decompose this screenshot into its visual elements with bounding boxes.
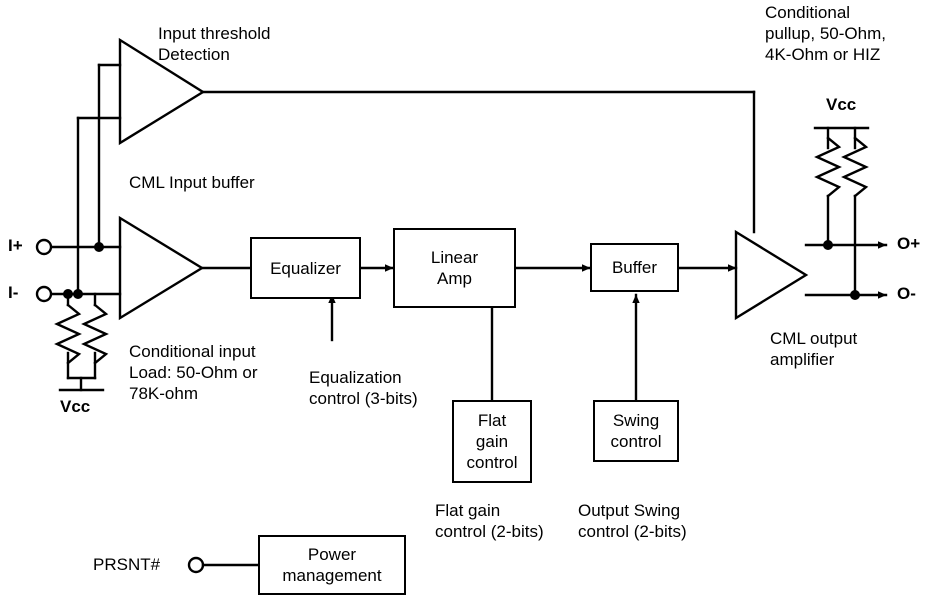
block-power-management[interactable]: Power management [258, 535, 406, 595]
label-cml-output-amplifier: CML output amplifier [770, 328, 857, 370]
label-conditional-pullup: Conditional pullup, 50-Ohm, 4K-Ohm or HI… [765, 2, 886, 65]
label-cml-input-buffer: CML Input buffer [129, 172, 255, 193]
block-buffer[interactable]: Buffer [590, 243, 679, 292]
label-input-plus: I+ [8, 235, 23, 256]
label-conditional-input-load: Conditional input Load: 50-Ohm or 78K-oh… [129, 341, 258, 404]
label-output-plus: O+ [897, 233, 920, 254]
label-prsnt: PRSNT# [93, 554, 160, 575]
block-diagram: Equalizer Linear Amp Buffer Flat gain co… [0, 0, 937, 601]
block-equalizer[interactable]: Equalizer [250, 237, 361, 299]
block-swing-control[interactable]: Swing control [593, 400, 679, 462]
label-input-minus: I- [8, 282, 18, 303]
label-input-threshold-detection: Input threshold Detection [158, 23, 270, 65]
cml-input-triangle [120, 218, 202, 318]
label-equalization-control: Equalization control (3-bits) [309, 367, 418, 409]
block-linear-amp[interactable]: Linear Amp [393, 228, 516, 308]
block-flat-gain-control[interactable]: Flat gain control [452, 400, 532, 483]
label-output-minus: O- [897, 283, 916, 304]
label-vcc-bottom: Vcc [60, 396, 90, 417]
label-vcc-top: Vcc [826, 94, 856, 115]
label-flat-gain-control-bits: Flat gain control (2-bits) [435, 500, 544, 542]
cml-output-triangle [736, 232, 806, 318]
label-output-swing-control-bits: Output Swing control (2-bits) [578, 500, 687, 542]
